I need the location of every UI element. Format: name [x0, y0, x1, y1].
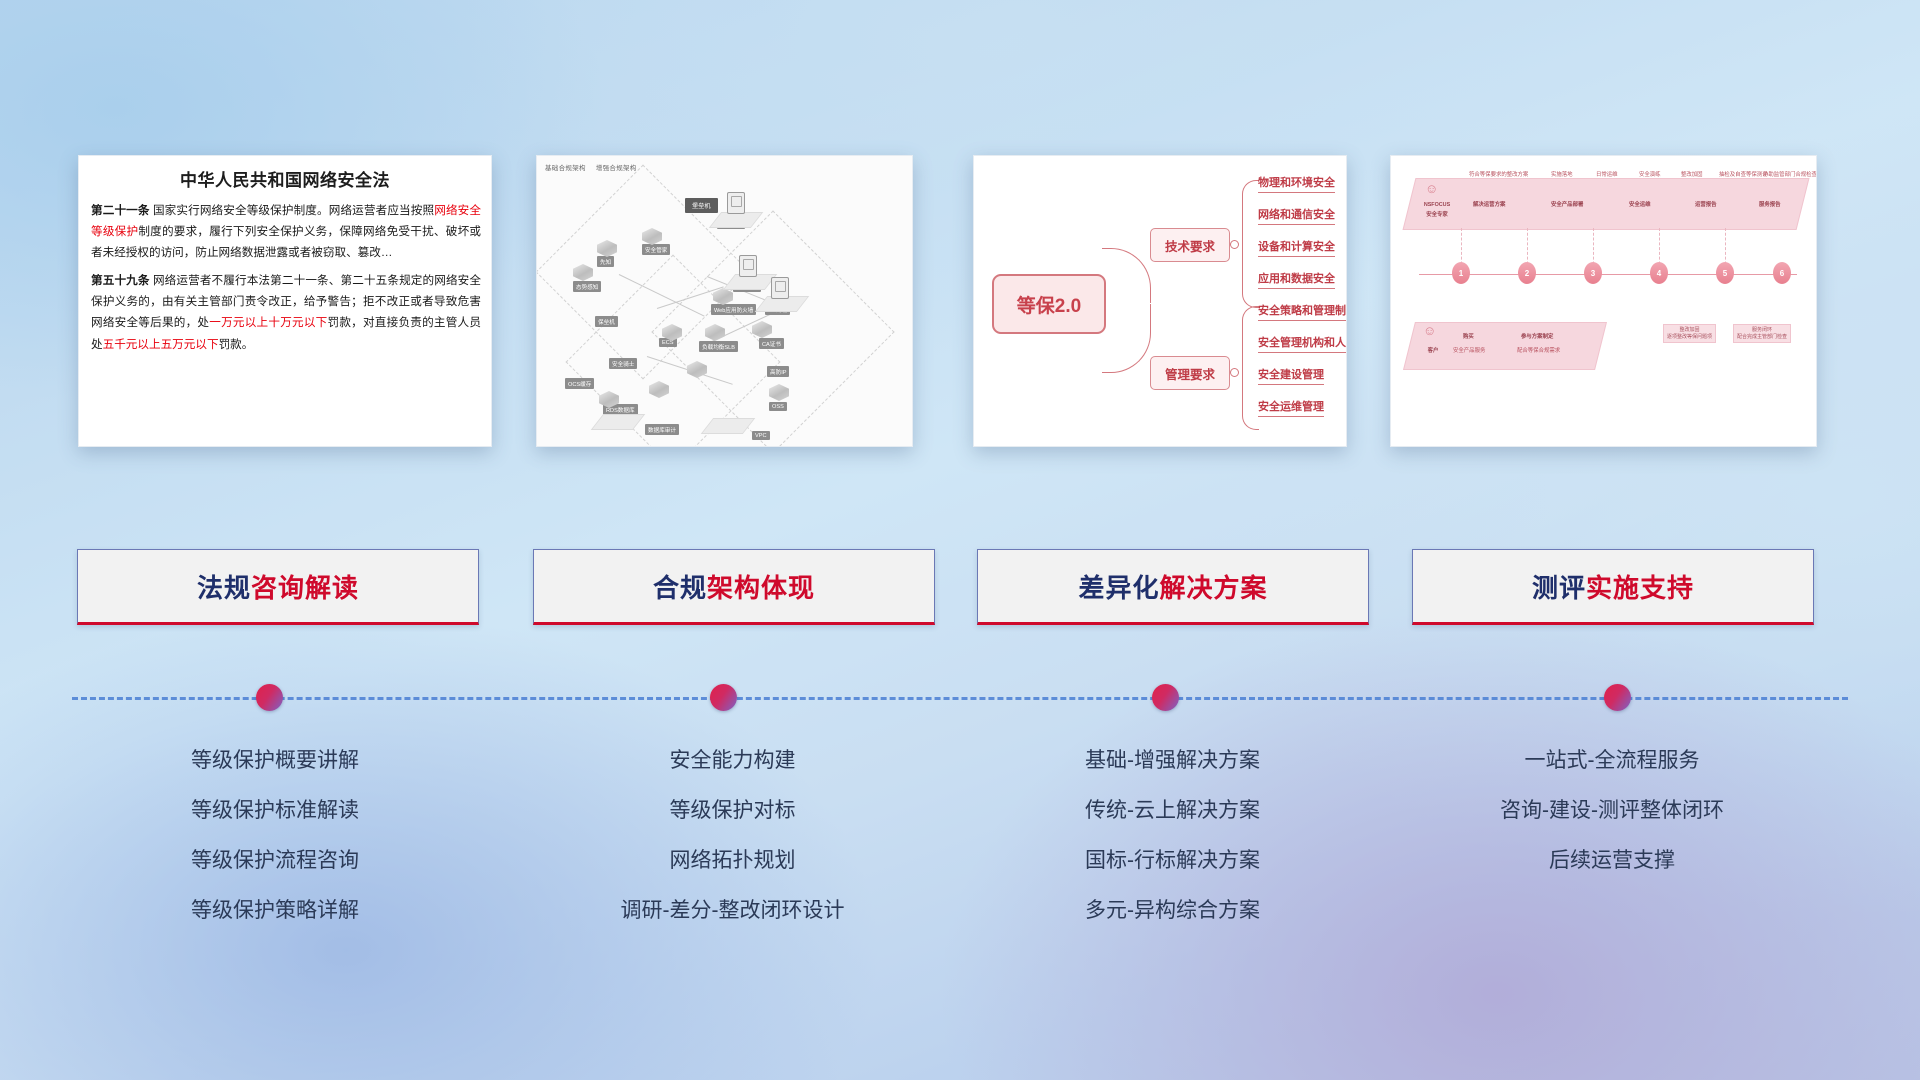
mindmap-fan-technical	[1242, 180, 1259, 308]
mindmap-leaf: 设备和计算安全	[1258, 238, 1335, 257]
architecture-header-left: 基础合规架构	[545, 165, 586, 172]
serviceflow-top-step: 安全演练	[1639, 172, 1661, 179]
serviceflow-band-label: 安全运维	[1629, 202, 1651, 209]
serviceflow-step-number: 3	[1584, 262, 1602, 284]
headline-title-3: 差异化解决方案	[1078, 568, 1267, 605]
mindmap-branch-management: 管理要求	[1150, 356, 1230, 390]
mindmap-connector-management	[1102, 304, 1151, 373]
card-architecture-screenshot[interactable]: 基础合规架构增强合规架构 堡垒机 安全管家 先知 态势感知 保垒机 安全骑士 O…	[536, 155, 913, 447]
architecture-node: 保垒机	[595, 316, 618, 327]
architecture-server-icon	[771, 277, 789, 299]
list-item: 后续运营支撑	[1392, 850, 1832, 871]
headline-box-4[interactable]: 测评实施支持	[1412, 549, 1814, 625]
serviceflow-bottom-tag: 整改加固 逐项整改等保问题项	[1663, 324, 1716, 343]
serviceflow-bottom-sub: 配合等保合规需求	[1517, 348, 1560, 355]
headline-title-2-part-a: 合规	[653, 573, 707, 603]
serviceflow-expert-role: 安全专家	[1411, 212, 1463, 219]
serviceflow-step-number: 2	[1518, 262, 1536, 284]
mindmap-leaf: 应用和数据安全	[1258, 270, 1335, 289]
list-item: 传统-云上解决方案	[955, 800, 1390, 821]
architecture-node: VPC	[752, 431, 770, 440]
serviceflow-bottom-sub: 配合完成主管部门检查	[1737, 334, 1787, 341]
architecture-node: OSS	[769, 402, 787, 411]
mindmap-connector-technical	[1102, 248, 1151, 303]
list-item: 调研-差分-整改闭环设计	[510, 900, 955, 921]
card-law-screenshot[interactable]: 中华人民共和国网络安全法 第二十一条 国家实行网络安全等级保护制度。网络运营者应…	[78, 155, 492, 447]
mindmap-fan-management	[1242, 306, 1259, 430]
card-mindmap-screenshot[interactable]: 等保2.0 技术要求 管理要求 物理和环境安全 网络和通信安全 设备和计算安全 …	[973, 155, 1347, 447]
architecture-node: 负载均衡SLB	[699, 341, 738, 352]
mindmap-leaf: 网络和通信安全	[1258, 206, 1335, 225]
slide-stage: 中华人民共和国网络安全法 第二十一条 国家实行网络安全等级保护制度。网络运营者应…	[0, 0, 1920, 1080]
list-item: 等级保护策略详解	[60, 900, 490, 921]
list-item: 网络拓扑规划	[510, 850, 955, 871]
law-article-59-highlight-2: 五千元以上五万元以下	[103, 338, 219, 351]
law-article-21-label: 第二十一条	[91, 204, 150, 217]
architecture-node: Web应用防火墙	[711, 304, 756, 315]
architecture-node: 态势感知	[573, 281, 601, 292]
law-title: 中华人民共和国网络安全法	[79, 166, 491, 191]
bullet-column-4: 一站式-全流程服务 咨询-建设-测评整体闭环 后续运营支撑	[1392, 750, 1832, 900]
serviceflow-bottom-sub: 安全产品服务	[1453, 348, 1485, 355]
headline-title-1-part-b: 咨询解读	[251, 573, 359, 603]
list-item: 一站式-全流程服务	[1392, 750, 1832, 771]
serviceflow-top-step: 抽检及自查等保测评	[1719, 172, 1768, 179]
architecture-header-right: 增强合规架构	[596, 165, 637, 172]
mindmap-root: 等保2.0	[992, 274, 1106, 334]
law-article-59-highlight-1: 一万元以上十万元以下	[209, 316, 327, 329]
headline-title-1-part-a: 法规	[197, 573, 251, 603]
timeline-dot-3[interactable]	[1152, 684, 1179, 711]
headline-title-2-part-b: 架构体现	[707, 573, 815, 603]
law-article-59-p3: 罚款。	[219, 338, 254, 351]
headline-box-2[interactable]: 合规架构体现	[533, 549, 935, 625]
architecture-server-icon	[739, 255, 757, 277]
law-article-59-label: 第五十九条	[91, 274, 150, 287]
card-serviceflow-screenshot[interactable]: ☺ NSFOCUS 安全专家 符合等保要求的整改方案 实施落地 日常运维 安全演…	[1390, 155, 1817, 447]
headline-title-4-part-a: 测评	[1532, 573, 1586, 603]
mindmap-collapse-dot-management[interactable]	[1230, 368, 1239, 377]
bullet-column-2: 安全能力构建 等级保护对标 网络拓扑规划 调研-差分-整改闭环设计	[510, 750, 955, 950]
headline-box-3[interactable]: 差异化解决方案	[977, 549, 1369, 625]
timeline-track	[72, 697, 1848, 700]
list-item: 安全能力构建	[510, 750, 955, 771]
mindmap-leaf: 安全管理机构和人员	[1258, 334, 1347, 353]
serviceflow-band-label: 运营报告	[1695, 202, 1717, 209]
bullet-column-1: 等级保护概要讲解 等级保护标准解读 等级保护流程咨询 等级保护策略详解	[60, 750, 490, 950]
serviceflow-step-number: 4	[1650, 262, 1668, 284]
architecture-platform	[709, 212, 764, 228]
headline-title-2: 合规架构体现	[653, 568, 815, 605]
serviceflow-band-label: 解决运营方案	[1473, 202, 1505, 209]
serviceflow-customer-role: 客户	[1413, 348, 1453, 355]
architecture-node: 先知	[597, 256, 614, 267]
mindmap-leaf: 物理和环境安全	[1258, 174, 1335, 193]
serviceflow-step-number: 1	[1452, 262, 1470, 284]
list-item: 基础-增强解决方案	[955, 750, 1390, 771]
serviceflow-expert-band	[1403, 178, 1810, 230]
mindmap-branch-technical: 技术要求	[1150, 228, 1230, 262]
mindmap-collapse-dot-technical[interactable]	[1230, 240, 1239, 249]
architecture-node: 数据库审计	[645, 424, 679, 435]
serviceflow-top-step: 整改加固	[1681, 172, 1703, 179]
list-item: 国标-行标解决方案	[955, 850, 1390, 871]
headline-title-4: 测评实施支持	[1532, 568, 1694, 605]
architecture-node: 安全骑士	[609, 358, 637, 369]
serviceflow-top-step: 协助监管部门合规检查运营	[1763, 172, 1817, 179]
serviceflow-step-number: 6	[1773, 262, 1791, 284]
list-item: 多元-异构综合方案	[955, 900, 1390, 921]
headline-box-1[interactable]: 法规咨询解读	[77, 549, 479, 625]
serviceflow-bottom-label: 购买	[1463, 334, 1474, 341]
serviceflow-bottom-tag: 服务闭环 配合完成主管部门检查	[1733, 324, 1791, 343]
timeline-dot-1[interactable]	[256, 684, 283, 711]
timeline-dot-2[interactable]	[710, 684, 737, 711]
architecture-node: 堡垒机	[685, 198, 718, 213]
serviceflow-step-number: 5	[1716, 262, 1734, 284]
headline-title-4-part-b: 实施支持	[1586, 573, 1694, 603]
serviceflow-top-step: 实施落地	[1551, 172, 1573, 179]
architecture-header: 基础合规架构增强合规架构	[545, 162, 647, 172]
architecture-node: CA证书	[759, 338, 784, 349]
serviceflow-expert-brand: NSFOCUS	[1411, 202, 1463, 209]
expert-avatar-icon: ☺	[1425, 182, 1438, 195]
serviceflow-timeline	[1419, 274, 1797, 275]
headline-title-3-part-a: 差异化	[1078, 573, 1159, 603]
list-item: 等级保护流程咨询	[60, 850, 490, 871]
headline-title-1: 法规咨询解读	[197, 568, 359, 605]
serviceflow-band-label: 服务报告	[1759, 202, 1781, 209]
architecture-node: 高防IP	[767, 366, 789, 377]
serviceflow-bottom-label: 参与方案制定	[1521, 334, 1553, 341]
architecture-node: 安全管家	[642, 244, 670, 255]
law-article-21-p2: 制度的要求，履行下列安全保护义务，保障网络免受干扰、破坏或者未经授权的访问，防止…	[91, 225, 481, 259]
bullet-column-3: 基础-增强解决方案 传统-云上解决方案 国标-行标解决方案 多元-异构综合方案	[955, 750, 1390, 950]
law-body: 第二十一条 国家实行网络安全等级保护制度。网络运营者应当按照网络安全等级保护制度…	[91, 200, 481, 355]
mindmap-leaf: 安全建设管理	[1258, 366, 1324, 385]
list-item: 等级保护概要讲解	[60, 750, 490, 771]
customer-avatar-icon: ☺	[1423, 324, 1436, 337]
mindmap-leaf: 安全运维管理	[1258, 398, 1324, 417]
list-item: 咨询-建设-测评整体闭环	[1392, 800, 1832, 821]
timeline-dot-4[interactable]	[1604, 684, 1631, 711]
headline-title-3-part-b: 解决方案	[1160, 573, 1268, 603]
serviceflow-bottom-sub: 逐项整改等保问题项	[1667, 334, 1712, 341]
serviceflow-top-step: 符合等保要求的整改方案	[1469, 172, 1528, 179]
list-item: 等级保护标准解读	[60, 800, 490, 821]
mindmap-leaf: 安全策略和管理制度	[1258, 302, 1347, 321]
serviceflow-top-step: 日常运维	[1596, 172, 1618, 179]
list-item: 等级保护对标	[510, 800, 955, 821]
serviceflow-band-label: 安全产品部署	[1551, 202, 1583, 209]
architecture-node: OCS缓存	[565, 378, 594, 389]
architecture-server-icon	[727, 192, 745, 214]
law-article-21-p1: 国家实行网络安全等级保护制度。网络运营者应当按照	[150, 204, 435, 217]
